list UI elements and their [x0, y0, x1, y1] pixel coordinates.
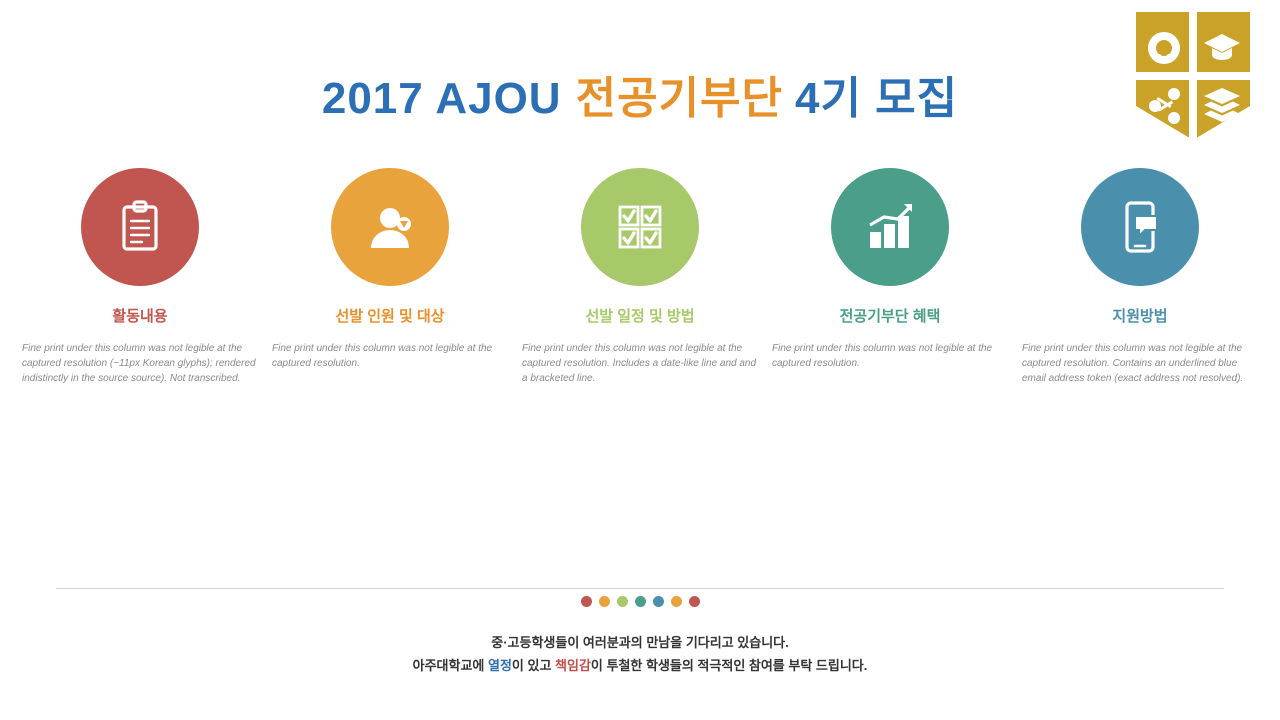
dot-2	[599, 596, 610, 607]
footer-highlight-passion: 열정	[488, 658, 512, 673]
bullets-unresolved-note: Fine print under this column was not leg…	[772, 341, 1008, 371]
footer-line-2: 아주대학교에 열정이 있고 책임감이 투철한 학생들의 적극적인 참여를 부탁 …	[0, 655, 1280, 678]
column-bullets: Fine print under this column was not leg…	[22, 341, 258, 386]
column-selection-target: 선발 인원 및 대상 Fine print under this column …	[272, 168, 508, 371]
dot-5	[653, 596, 664, 607]
dot-6	[671, 596, 682, 607]
footer-divider	[56, 588, 1224, 589]
ascending-bars-icon	[861, 198, 919, 256]
column-heading: 선발 일정 및 방법	[585, 308, 694, 327]
column-group: 활동내용 Fine print under this column was no…	[22, 168, 1258, 578]
dot-7	[689, 596, 700, 607]
checkbox-grid-icon	[611, 198, 669, 256]
footer-line-1: 중·고등학생들이 여러분과의 만남을 기다리고 있습니다.	[0, 632, 1280, 655]
phone-message-icon	[1111, 198, 1169, 256]
column-heading: 지원방법	[1112, 308, 1167, 327]
column-bullets: Fine print under this column was not leg…	[1022, 341, 1258, 386]
title-mid-segment: 전공기부단	[576, 62, 783, 126]
footer-line2-pre: 아주대학교에	[413, 658, 488, 673]
bullets-unresolved-note: Fine print under this column was not leg…	[1022, 341, 1258, 386]
column-benefits: 전공기부단 혜택 Fine print under this column wa…	[772, 168, 1008, 371]
column-bullets: Fine print under this column was not leg…	[772, 341, 1008, 371]
title-tail-segment: 4기 모집	[795, 62, 958, 126]
apply-circle	[1081, 168, 1199, 286]
footer-line2-mid: 이 있고	[512, 658, 555, 673]
bullets-unresolved-note: Fine print under this column was not leg…	[272, 341, 508, 371]
activity-circle	[81, 168, 199, 286]
column-schedule-method: 선발 일정 및 방법 Fine print under this column …	[522, 168, 758, 386]
dot-1	[581, 596, 592, 607]
decorative-dot-row	[0, 596, 1280, 607]
dot-4	[635, 596, 646, 607]
footer-line2-post: 이 투철한 학생들의 적극적인 참여를 부탁 드립니다.	[591, 658, 867, 673]
column-activity: 활동내용 Fine print under this column was no…	[22, 168, 258, 386]
person-headset-icon	[361, 198, 419, 256]
column-heading: 활동내용	[112, 308, 167, 327]
dot-3	[617, 596, 628, 607]
schedule-method-circle	[581, 168, 699, 286]
column-bullets: Fine print under this column was not leg…	[522, 341, 758, 386]
column-heading: 선발 인원 및 대상	[335, 308, 444, 327]
bullets-unresolved-note: Fine print under this column was not leg…	[22, 341, 258, 386]
page-title: 2017 AJOU전공기부단4기 모집	[0, 62, 1280, 126]
column-apply: 지원방법 Fine print under this column was no…	[1022, 168, 1258, 386]
bullets-unresolved-note: Fine print under this column was not leg…	[522, 341, 758, 386]
title-year-segment: 2017 AJOU	[322, 74, 562, 124]
footer-highlight-responsibility: 책임감	[555, 658, 591, 673]
benefits-circle	[831, 168, 949, 286]
footer-message: 중·고등학생들이 여러분과의 만남을 기다리고 있습니다. 아주대학교에 열정이…	[0, 632, 1280, 678]
selection-target-circle	[331, 168, 449, 286]
column-heading: 전공기부단 혜택	[840, 308, 941, 327]
column-bullets: Fine print under this column was not leg…	[272, 341, 508, 371]
clipboard-icon	[111, 198, 169, 256]
